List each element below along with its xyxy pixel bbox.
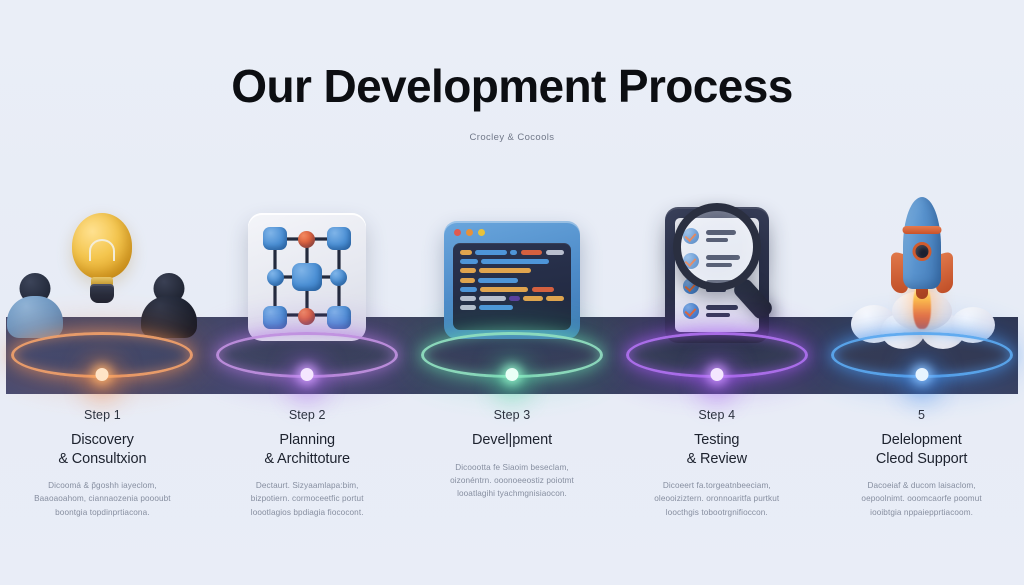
code-token — [546, 296, 564, 301]
text-bar — [706, 305, 738, 310]
header: Our Development Process Crocley & Cocool… — [0, 0, 1024, 143]
diagram-node-accent — [298, 231, 315, 248]
caption-step-3[interactable]: Step 3 Devel|pment Dicoootta fe Siaoim b… — [410, 400, 615, 585]
code-token — [460, 268, 476, 273]
code-token — [480, 287, 528, 292]
step-description: Dacoeiaf & ducom laisaclom, oepoolnimt. … — [833, 479, 1010, 519]
step-description-line2: bizpotiern. cormoceetfic portut — [219, 492, 396, 505]
step-title: Delelopment Cleod Support — [833, 431, 1010, 468]
code-token — [460, 250, 472, 255]
captions-row: Step 1 Discovery & Consultxion Dicoomá &… — [0, 400, 1024, 585]
illustration-scene — [0, 170, 1024, 395]
glow-dot-step-4 — [710, 368, 723, 381]
step-title-line2: & Consultxion — [14, 450, 191, 469]
code-line — [460, 296, 564, 301]
diagram-node — [263, 306, 287, 329]
code-token — [546, 250, 564, 255]
window-dot — [478, 229, 485, 236]
step-title-line1: Planning — [219, 431, 396, 450]
caption-step-5[interactable]: 5 Delelopment Cleod Support Dacoeiaf & d… — [819, 400, 1024, 585]
step-number-label: Step 1 — [14, 408, 191, 422]
code-line — [460, 305, 564, 310]
step-description-line3: loocthgis tobootrgnifioccon. — [628, 506, 805, 519]
step-title: Devel|pment — [424, 431, 601, 450]
diagram-node — [327, 227, 351, 250]
window-traffic-dots — [450, 227, 574, 240]
step-description-line3: iooibtgia nppaiepprtiacoom. — [833, 506, 1010, 519]
code-line — [460, 268, 564, 273]
step-description-line3: loootlagios bpdiagia fiococont. — [219, 506, 396, 519]
code-token — [481, 259, 549, 264]
step-number-label: 5 — [833, 408, 1010, 422]
illustration-step-1[interactable] — [0, 170, 205, 395]
person-body — [7, 296, 63, 338]
glow-dot-step-1 — [96, 368, 109, 381]
diagram-node — [267, 269, 284, 286]
diagram-node-accent — [298, 308, 315, 325]
code-token — [479, 305, 513, 310]
step-description-line1: Dicoomá & p̃goshh iayeclom, — [14, 479, 191, 492]
code-token — [523, 296, 542, 301]
illustration-step-3[interactable] — [410, 170, 615, 395]
step-description-line1: Dacoeiaf & ducom laisaclom, — [833, 479, 1010, 492]
step-title-line1: Testing — [628, 431, 805, 450]
code-line — [460, 287, 564, 292]
window-dot — [454, 229, 461, 236]
page-subtitle: Crocley & Cocools — [0, 132, 1024, 143]
slide-canvas: Our Development Process Crocley & Cocool… — [0, 0, 1024, 585]
illustration-row — [0, 170, 1024, 395]
illustration-step-2[interactable] — [205, 170, 410, 395]
diagram-node-center — [292, 263, 322, 291]
person-body — [141, 296, 197, 338]
illustration-step-5[interactable] — [819, 170, 1024, 395]
step-description-line2: Baaoaoahom, ciannaozenia poooubt — [14, 492, 191, 505]
step-title: Testing & Review — [628, 431, 805, 468]
step-description: Dicoootta fe Siaoim beseclam, oizonéntrn… — [424, 461, 601, 501]
step-description-line2: oleooiziztern. oronnoaritfa purtkut — [628, 492, 805, 505]
code-token — [460, 278, 475, 283]
checkmark-icon — [683, 303, 699, 319]
step-description: Dicoomá & p̃goshh iayeclom, Baaoaoahom, … — [14, 479, 191, 519]
diagram-node — [330, 269, 347, 286]
checklist-item — [683, 303, 751, 319]
code-token — [478, 278, 518, 283]
step-description-line2: oizonéntrn. ooonoeeostiz poiotmt — [424, 474, 601, 487]
step-title-line1: Devel|pment — [424, 431, 601, 450]
code-line — [460, 278, 564, 283]
illustration-step-4[interactable] — [614, 170, 819, 395]
step-title-line2: & Review — [628, 450, 805, 469]
bulb-base-icon — [90, 284, 114, 303]
step-title: Planning & Archittoture — [219, 431, 396, 468]
caption-step-1[interactable]: Step 1 Discovery & Consultxion Dicoomá &… — [0, 400, 205, 585]
code-lines — [453, 243, 571, 330]
code-token — [460, 296, 476, 301]
code-line — [460, 259, 564, 264]
caption-step-2[interactable]: Step 2 Planning & Archittoture Dectaurt.… — [205, 400, 410, 585]
code-token — [509, 296, 520, 301]
page-title: Our Development Process — [0, 62, 1024, 110]
glow-dot-step-5 — [915, 368, 928, 381]
magnifier-lens-icon — [673, 203, 761, 291]
code-token — [460, 287, 477, 292]
step-title: Discovery & Consultxion — [14, 431, 191, 468]
code-token — [532, 287, 554, 292]
code-window — [444, 221, 580, 339]
step-description: Dicoeert fa.torgeatnbeeciam, oleooizizte… — [628, 479, 805, 519]
code-token — [479, 296, 505, 301]
step-description-line1: Dectaurt. Sizyaamlapa:bim, — [219, 479, 396, 492]
checklist-item-text — [706, 305, 751, 317]
rocket-band — [902, 226, 941, 234]
glow-dot-step-2 — [301, 368, 314, 381]
text-bar — [706, 313, 730, 318]
step-description-line1: Dicoeert fa.torgeatnbeeciam, — [628, 479, 805, 492]
step-number-label: Step 4 — [628, 408, 805, 422]
step-number-label: Step 3 — [424, 408, 601, 422]
step-number-label: Step 2 — [219, 408, 396, 422]
step-title-line1: Discovery — [14, 431, 191, 450]
step-description-line2: oepoolnimt. ooomcaorfe poomut — [833, 492, 1010, 505]
code-token — [521, 250, 543, 255]
caption-step-4[interactable]: Step 4 Testing & Review Dicoeert fa.torg… — [614, 400, 819, 585]
code-token — [479, 268, 531, 273]
window-dot — [466, 229, 473, 236]
step-description-line1: Dicoootta fe Siaoim beseclam, — [424, 461, 601, 474]
step-title-line1: Delelopment — [833, 431, 1010, 450]
glow-dot-step-3 — [505, 368, 518, 381]
diagram-node — [327, 306, 351, 329]
diagram-board — [248, 213, 366, 341]
step-description-line3: boontgia topdinprtiacona. — [14, 506, 191, 519]
code-token — [475, 250, 507, 255]
code-line — [460, 250, 564, 255]
step-description: Dectaurt. Sizyaamlapa:bim, bizpotiern. c… — [219, 479, 396, 519]
diagram-node — [263, 227, 287, 250]
step-title-line2: Cleod Support — [833, 450, 1010, 469]
code-token — [460, 305, 476, 310]
code-token — [460, 259, 478, 264]
bulb-filament-icon — [89, 239, 115, 261]
rocket-porthole — [912, 242, 931, 261]
step-title-line2: & Archittoture — [219, 450, 396, 469]
step-description-line3: looatlagihi tyachmgnisiaocon. — [424, 487, 601, 500]
code-token — [510, 250, 517, 255]
